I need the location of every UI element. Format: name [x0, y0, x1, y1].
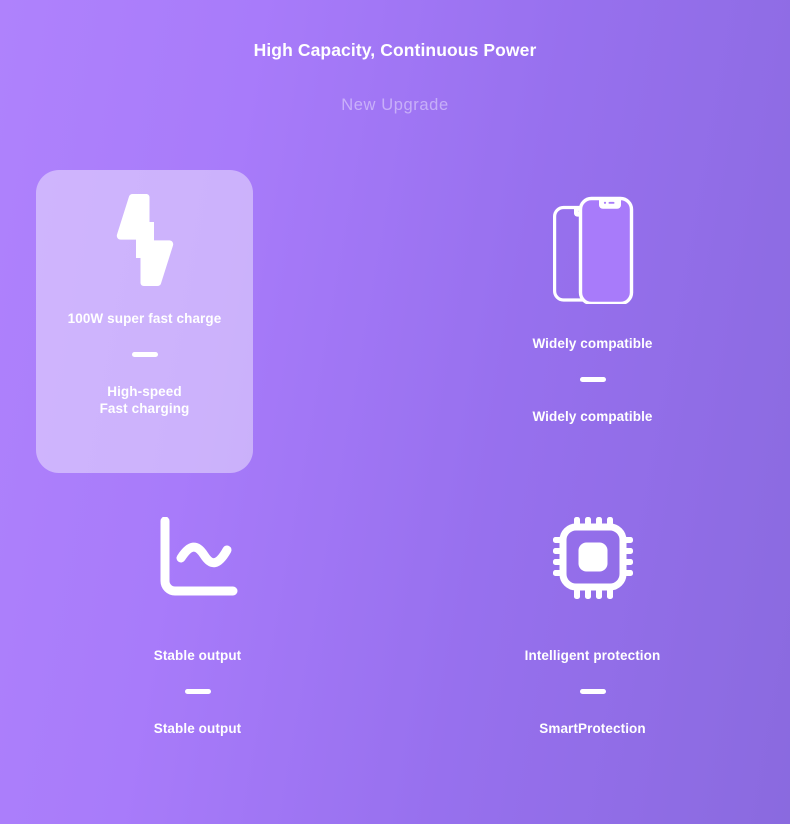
label-divider	[580, 377, 606, 382]
feature-secondary-label: SmartProtection	[539, 720, 646, 737]
feature-item-fast-charge: 100W super fast charge High-speed Fast c…	[0, 160, 395, 490]
label-divider	[185, 689, 211, 694]
feature-primary-label: Widely compatible	[532, 335, 652, 353]
cpu-chip-icon	[553, 490, 633, 625]
feature-primary-label: Intelligent protection	[525, 647, 661, 665]
lightning-bolt-icon	[36, 170, 253, 310]
feature-primary-label: 100W super fast charge	[68, 310, 222, 328]
banner-header: High Capacity, Continuous Power New Upgr…	[0, 38, 790, 116]
feature-primary-label: Stable output	[154, 647, 242, 665]
feature-card-highlight: 100W super fast charge High-speed Fast c…	[36, 170, 253, 473]
label-divider	[132, 352, 158, 357]
feature-item-smart-protection: Intelligent protection SmartProtection	[395, 490, 790, 790]
product-feature-banner: High Capacity, Continuous Power New Upgr…	[0, 0, 790, 824]
label-divider	[580, 689, 606, 694]
line-chart-axis-icon	[157, 490, 239, 625]
feature-item-stable-output: Stable output Stable output	[0, 490, 395, 790]
feature-secondary-label: High-speed Fast charging	[100, 383, 190, 417]
feature-item-compatibility: Widely compatible Widely compatible	[395, 160, 790, 490]
feature-secondary-label: Stable output	[154, 720, 242, 737]
two-phones-icon	[551, 182, 635, 317]
page-subtitle: New Upgrade	[0, 94, 790, 116]
feature-grid: 100W super fast charge High-speed Fast c…	[0, 160, 790, 790]
page-title: High Capacity, Continuous Power	[0, 38, 790, 62]
feature-secondary-label: Widely compatible	[532, 408, 652, 425]
